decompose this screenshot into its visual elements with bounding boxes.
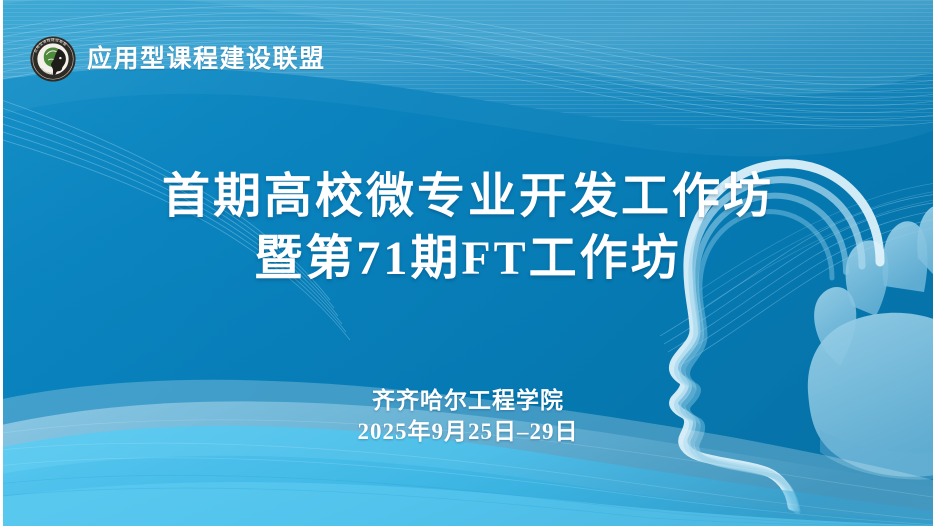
brand-lockup: 应用型课程建设联盟 ALLIANCE 应用型课程建设联盟 [30,36,326,82]
title-line-1: 首期高校微专业开发工作坊 [0,166,936,228]
poster-info: 齐齐哈尔工程学院 2025年9月25日–29日 [0,385,936,447]
organization-name: 应用型课程建设联盟 [87,47,326,72]
alliance-emblem-icon: 应用型课程建设联盟 ALLIANCE [30,36,76,82]
event-dates: 2025年9月25日–29日 [0,416,936,447]
title-line-2: 暨第71期FT工作坊 [0,228,936,290]
conference-poster: 应用型课程建设联盟 ALLIANCE 应用型课程建设联盟 首期高校微专业开发工作… [0,0,936,526]
venue-name: 齐齐哈尔工程学院 [0,385,936,416]
poster-title: 首期高校微专业开发工作坊 暨第71期FT工作坊 [0,166,936,290]
